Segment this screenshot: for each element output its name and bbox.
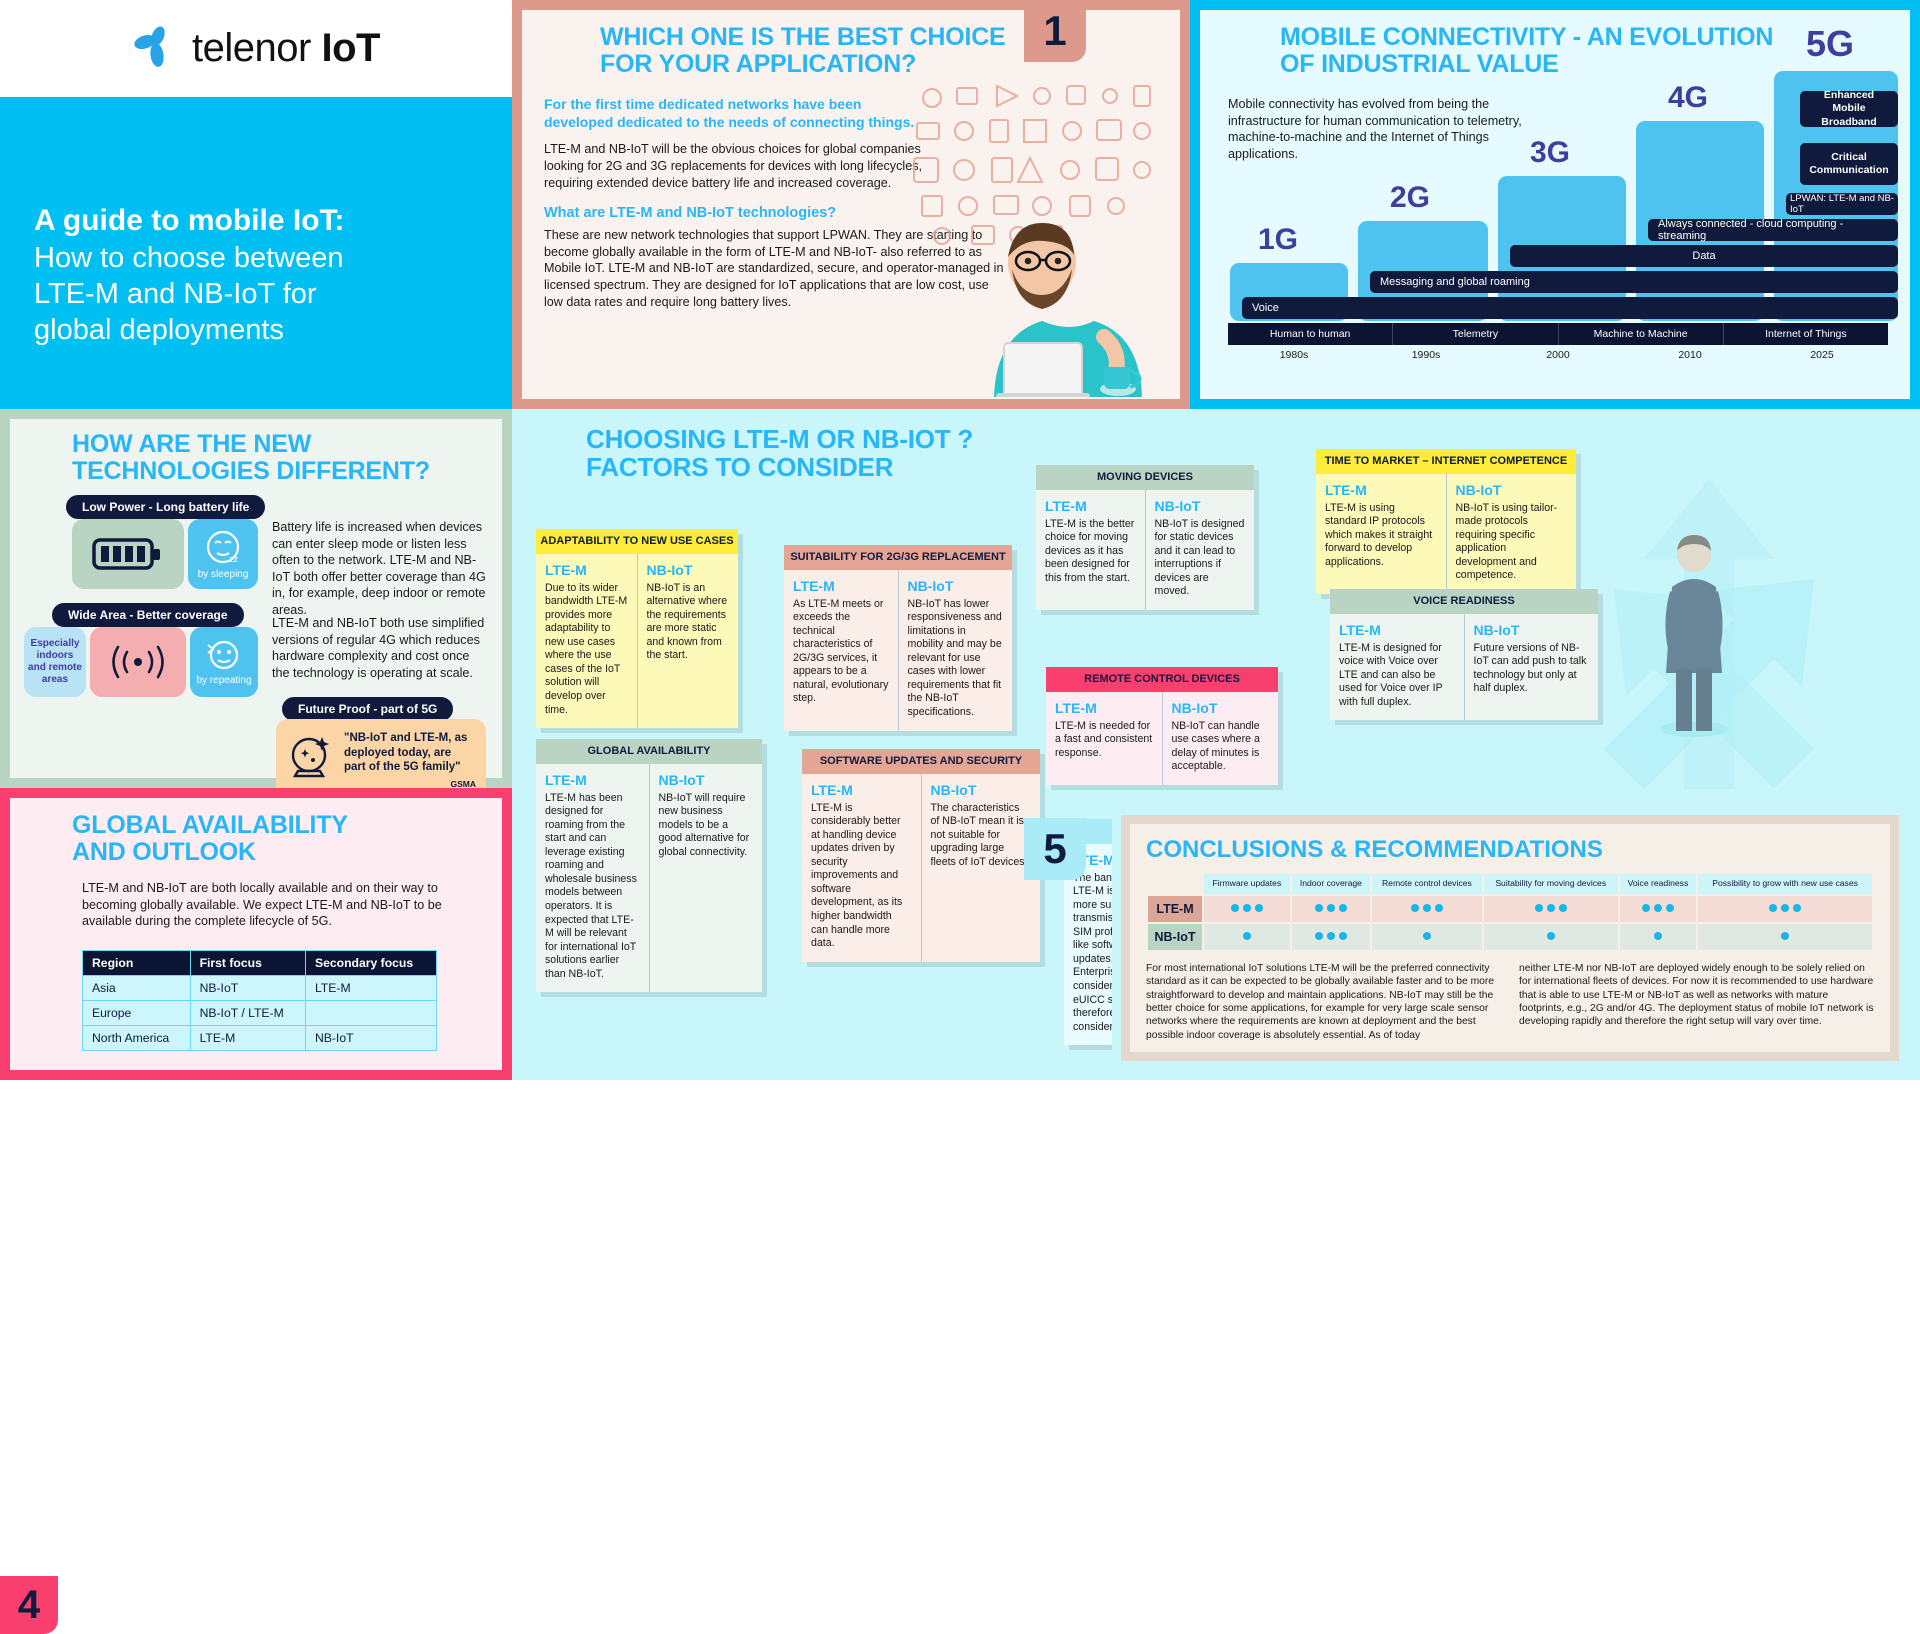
battery-tile bbox=[72, 519, 184, 589]
bar-label-3g: 3G bbox=[1530, 136, 1570, 170]
card-col-label-lte: LTE-M bbox=[545, 772, 640, 788]
cell-dots bbox=[1619, 895, 1698, 923]
bar-label-1g: 1G bbox=[1258, 223, 1298, 257]
row-label-lte-m: LTE-M bbox=[1147, 895, 1203, 923]
signal-waves-icon bbox=[107, 645, 169, 679]
card-title: ADAPTABILITY TO NEW USE CASES bbox=[536, 529, 738, 554]
card-col-label-lte: LTE-M bbox=[1055, 700, 1153, 716]
card-col-label-nb: NB-IoT bbox=[1474, 622, 1590, 638]
year-1980s: 1980s bbox=[1228, 349, 1360, 365]
th-region: Region bbox=[83, 951, 191, 976]
section-4: GLOBAL AVAILABILITY AND OUTLOOK LTE-M an… bbox=[0, 788, 512, 1080]
table-row-lte-m: LTE-M bbox=[1147, 895, 1873, 923]
card-col-label-lte: LTE-M bbox=[793, 578, 889, 594]
card-text-nb: NB-IoT will require new business models … bbox=[659, 792, 754, 860]
repeating-face-icon bbox=[204, 639, 244, 673]
card-col-label-nb: NB-IoT bbox=[1172, 700, 1270, 716]
card-title: GLOBAL AVAILABILITY bbox=[536, 739, 762, 764]
th-secondary-focus: Secondary focus bbox=[305, 951, 436, 976]
card-text-nb: NB-IoT is an alternative where the requi… bbox=[647, 582, 730, 663]
card-text-lte: LTE-M is considerably better at handling… bbox=[811, 802, 912, 951]
bar-label-4g: 4G bbox=[1668, 81, 1708, 115]
card-col-label-nb: NB-IoT bbox=[931, 782, 1032, 798]
cell-second bbox=[305, 1001, 436, 1026]
section-4-title-line1: GLOBAL AVAILABILITY bbox=[72, 812, 492, 839]
section-4-para: LTE-M and NB-IoT are both locally availa… bbox=[82, 880, 462, 930]
th-first-focus: First focus bbox=[190, 951, 305, 976]
axis-group-human: Human to human bbox=[1228, 323, 1393, 345]
year-2010: 2010 bbox=[1624, 349, 1756, 365]
hero-sub-3: global deployments bbox=[34, 312, 478, 348]
box-critical-communication: Critical Communication bbox=[1800, 143, 1898, 185]
card-col-label-lte: LTE-M bbox=[1045, 498, 1136, 514]
axis-group-m2m: Machine to Machine bbox=[1559, 323, 1724, 345]
card-title: VOICE READINESS bbox=[1330, 589, 1598, 614]
th-blank bbox=[1147, 873, 1203, 895]
section-4-title-line2: AND OUTLOOK bbox=[72, 839, 492, 866]
section-1: WHICH ONE IS THE BEST CHOICE FOR YOUR AP… bbox=[512, 0, 1190, 409]
card-title: SOFTWARE UPDATES AND SECURITY bbox=[802, 749, 1040, 774]
section-1-title-line1: WHICH ONE IS THE BEST CHOICE bbox=[600, 24, 1070, 51]
card-text-nb: NB-IoT can handle use cases where a dela… bbox=[1172, 720, 1270, 774]
sleeping-face-icon: zz bbox=[202, 529, 244, 567]
region-focus-table: Region First focus Secondary focus Asia … bbox=[82, 950, 437, 1051]
th-voice-readiness: Voice readiness bbox=[1619, 873, 1698, 895]
cell-dots bbox=[1483, 895, 1619, 923]
card-moving-devices: MOVING DEVICES LTE-M LTE-M is the better… bbox=[1036, 465, 1254, 610]
card-title: SUITABILITY FOR 2G/3G REPLACEMENT bbox=[784, 545, 1012, 570]
cell-first: NB-IoT / LTE-M bbox=[190, 1001, 305, 1026]
logo-word-telenor: telenor bbox=[192, 26, 311, 70]
section-3-para-2: LTE-M and NB-IoT both use simplified ver… bbox=[272, 615, 490, 681]
hero-sub-2: LTE-M and NB-IoT for bbox=[34, 276, 478, 312]
card-2g3g-replacement: SUITABILITY FOR 2G/3G REPLACEMENT LTE-M … bbox=[784, 545, 1012, 731]
card-text-nb: NB-IoT has lower responsiveness and limi… bbox=[908, 598, 1004, 720]
card-col-label-lte: LTE-M bbox=[1339, 622, 1455, 638]
year-2025: 2025 bbox=[1756, 349, 1888, 365]
svg-text:zz: zz bbox=[229, 554, 239, 564]
hero-sub-1: How to choose between bbox=[34, 240, 478, 276]
repeating-tile: by repeating bbox=[190, 627, 258, 697]
infographic-page: telenor IoT A guide to mobile IoT: How t… bbox=[0, 0, 1920, 1080]
pill-wide-area: Wide Area - Better coverage bbox=[52, 603, 244, 627]
section-1-para-1: LTE-M and NB-IoT will be the obvious cho… bbox=[544, 141, 929, 191]
cell-dots bbox=[1697, 895, 1873, 923]
table-row: Europe NB-IoT / LTE-M bbox=[83, 1001, 437, 1026]
cell-dots bbox=[1291, 895, 1371, 923]
box-enhanced-mobile-broadband: Enhanced Mobile Broadband bbox=[1800, 91, 1898, 127]
band-always-connected: Always connected - cloud computing - str… bbox=[1648, 219, 1898, 241]
conclusions-title: CONCLUSIONS & RECOMMENDATIONS bbox=[1146, 836, 1874, 864]
sleeping-tile: zz by sleeping bbox=[188, 519, 258, 589]
cell-dots bbox=[1203, 923, 1291, 951]
hero-panel: A guide to mobile IoT: How to choose bet… bbox=[0, 97, 512, 409]
band-lpwan: LPWAN: LTE-M and NB-IoT bbox=[1786, 193, 1898, 215]
band-voice: Voice bbox=[1242, 297, 1898, 319]
card-text-nb: The characteristics of NB-IoT mean it is… bbox=[931, 802, 1032, 870]
cell-second: NB-IoT bbox=[305, 1026, 436, 1051]
th-indoor-coverage: Indoor coverage bbox=[1291, 873, 1371, 895]
axis-group-telemetry: Telemetry bbox=[1393, 323, 1558, 345]
cell-dots bbox=[1291, 923, 1371, 951]
battery-icon bbox=[92, 534, 164, 574]
card-text-lte: Due to its wider bandwidth LTE-M provide… bbox=[545, 582, 628, 717]
cell-first: NB-IoT bbox=[190, 976, 305, 1001]
card-text-nb: NB-IoT is designed for static devices an… bbox=[1155, 518, 1246, 599]
gsma-quote-text: "NB-IoT and LTE-M, as deployed today, ar… bbox=[344, 731, 476, 775]
section-3: HOW ARE THE NEW TECHNOLOGIES DIFFERENT? … bbox=[0, 409, 512, 788]
card-title: REMOTE CONTROL DEVICES bbox=[1046, 667, 1278, 692]
table-header-row: Region First focus Secondary focus bbox=[83, 951, 437, 976]
table-row: Asia NB-IoT LTE-M bbox=[83, 976, 437, 1001]
bar-label-5g: 5G bbox=[1806, 23, 1854, 65]
card-text-nb: NB-IoT is using tailor-made protocols re… bbox=[1456, 502, 1568, 583]
card-remote-control-devices: REMOTE CONTROL DEVICES LTE-M LTE-M is ne… bbox=[1046, 667, 1278, 785]
cell-dots bbox=[1371, 895, 1483, 923]
section-2-intro: Mobile connectivity has evolved from bei… bbox=[1228, 96, 1548, 162]
section-1-subhead: What are LTE-M and NB-IoT technologies? bbox=[544, 205, 929, 221]
cell-dots bbox=[1203, 895, 1291, 923]
band-messaging: Messaging and global roaming bbox=[1370, 271, 1898, 293]
card-col-label-lte: LTE-M bbox=[545, 562, 628, 578]
logo-word-iot: IoT bbox=[321, 26, 379, 70]
card-adaptability: ADAPTABILITY TO NEW USE CASES LTE-M Due … bbox=[536, 529, 738, 728]
chart-year-ticks: 1980s 1990s 2000 2010 2025 bbox=[1228, 349, 1888, 365]
cell-dots bbox=[1483, 923, 1619, 951]
th-remote-control: Remote control devices bbox=[1371, 873, 1483, 895]
hero-title: A guide to mobile IoT: bbox=[34, 202, 478, 240]
section-5-title-line1: CHOOSING LTE-M OR NB-IOT ? bbox=[586, 425, 1266, 453]
th-new-use-cases: Possibility to grow with new use cases bbox=[1697, 873, 1873, 895]
band-data: Data bbox=[1510, 245, 1898, 267]
card-text-lte: LTE-M is using standard IP protocols whi… bbox=[1325, 502, 1437, 570]
sleeping-tile-caption: by sleeping bbox=[198, 569, 249, 580]
card-col-label-nb: NB-IoT bbox=[908, 578, 1004, 594]
th-firmware-updates: Firmware updates bbox=[1203, 873, 1291, 895]
conclusions-panel: CONCLUSIONS & RECOMMENDATIONS Firmware u… bbox=[1112, 806, 1908, 1070]
cell-region: Asia bbox=[83, 976, 191, 1001]
section-3-title-line1: HOW ARE THE NEW bbox=[72, 431, 492, 458]
pill-future-proof: Future Proof - part of 5G bbox=[282, 697, 453, 721]
card-col-label-lte: LTE-M bbox=[811, 782, 912, 798]
section-1-number: 1 bbox=[1024, 0, 1086, 62]
table-row-nb-iot: NB-IoT bbox=[1147, 923, 1873, 951]
card-global-availability: GLOBAL AVAILABILITY LTE-M LTE-M has been… bbox=[536, 739, 762, 992]
year-1990s: 1990s bbox=[1360, 349, 1492, 365]
section-4-number: 4 bbox=[0, 1576, 58, 1634]
pill-low-power: Low Power - Long battery life bbox=[66, 495, 265, 519]
th-moving-devices: Suitability for moving devices bbox=[1483, 873, 1619, 895]
table-row: North America LTE-M NB-IoT bbox=[83, 1026, 437, 1051]
section-1-lead: For the first time dedicated networks ha… bbox=[544, 95, 929, 131]
cell-second: LTE-M bbox=[305, 976, 436, 1001]
card-text-nb: Future versions of NB-IoT can add push t… bbox=[1474, 642, 1590, 696]
card-title: MOVING DEVICES bbox=[1036, 465, 1254, 490]
cell-dots bbox=[1619, 923, 1698, 951]
card-col-label-nb: NB-IoT bbox=[659, 772, 754, 788]
cell-dots bbox=[1697, 923, 1873, 951]
cell-region: Europe bbox=[83, 1001, 191, 1026]
card-col-label-nb: NB-IoT bbox=[1155, 498, 1246, 514]
section-2: MOBILE CONNECTIVITY - AN EVOLUTION OF IN… bbox=[1190, 0, 1920, 409]
card-text-lte: LTE-M is the better choice for moving de… bbox=[1045, 518, 1136, 586]
card-col-label-nb: NB-IoT bbox=[1456, 482, 1568, 498]
indoor-remote-caption: Especially indoors and remote areas bbox=[24, 638, 86, 686]
axis-group-iot: Internet of Things bbox=[1724, 323, 1888, 345]
telenor-logo-icon bbox=[132, 26, 178, 72]
crystal-ball-icon bbox=[286, 731, 336, 781]
cell-dots bbox=[1371, 923, 1483, 951]
card-voice-readiness: VOICE READINESS LTE-M LTE-M is designed … bbox=[1330, 589, 1598, 720]
signal-tile bbox=[90, 627, 186, 697]
card-software-updates-security: SOFTWARE UPDATES AND SECURITY LTE-M LTE-… bbox=[802, 749, 1040, 962]
repeating-tile-caption: by repeating bbox=[196, 675, 251, 686]
year-2000: 2000 bbox=[1492, 349, 1624, 365]
conclusions-table: Firmware updates Indoor coverage Remote … bbox=[1146, 872, 1874, 952]
card-title: TIME TO MARKET – INTERNET COMPETENCE bbox=[1316, 449, 1576, 474]
card-text-lte: LTE-M is designed for voice with Voice o… bbox=[1339, 642, 1455, 710]
section-3-para-1: Battery life is increased when devices c… bbox=[272, 519, 490, 619]
person-illustration bbox=[922, 217, 1162, 397]
conclusions-para-left: For most international IoT solutions LTE… bbox=[1146, 962, 1501, 1042]
cell-region: North America bbox=[83, 1026, 191, 1051]
table-header-row: Firmware updates Indoor coverage Remote … bbox=[1147, 873, 1873, 895]
cell-first: LTE-M bbox=[190, 1026, 305, 1051]
card-text-lte: As LTE-M meets or exceeds the technical … bbox=[793, 598, 889, 706]
card-col-label-lte: LTE-M bbox=[1325, 482, 1437, 498]
card-col-label-nb: NB-IoT bbox=[647, 562, 730, 578]
card-text-lte: LTE-M has been designed for roaming from… bbox=[545, 792, 640, 982]
indoor-remote-tile: Especially indoors and remote areas bbox=[24, 627, 86, 697]
chart-axis-groups: Human to human Telemetry Machine to Mach… bbox=[1228, 323, 1888, 345]
card-time-to-market: TIME TO MARKET – INTERNET COMPETENCE LTE… bbox=[1316, 449, 1576, 594]
section-3-title-line2: TECHNOLOGIES DIFFERENT? bbox=[72, 458, 492, 485]
bar-label-2g: 2G bbox=[1390, 181, 1430, 215]
card-text-lte: LTE-M is needed for a fast and consisten… bbox=[1055, 720, 1153, 761]
section-5-number: 5 bbox=[1024, 818, 1086, 880]
row-label-nb-iot: NB-IoT bbox=[1147, 923, 1203, 951]
conclusions-para-right: neither LTE-M nor NB-IoT are deployed wi… bbox=[1519, 962, 1874, 1042]
brand-header: telenor IoT bbox=[0, 0, 512, 97]
